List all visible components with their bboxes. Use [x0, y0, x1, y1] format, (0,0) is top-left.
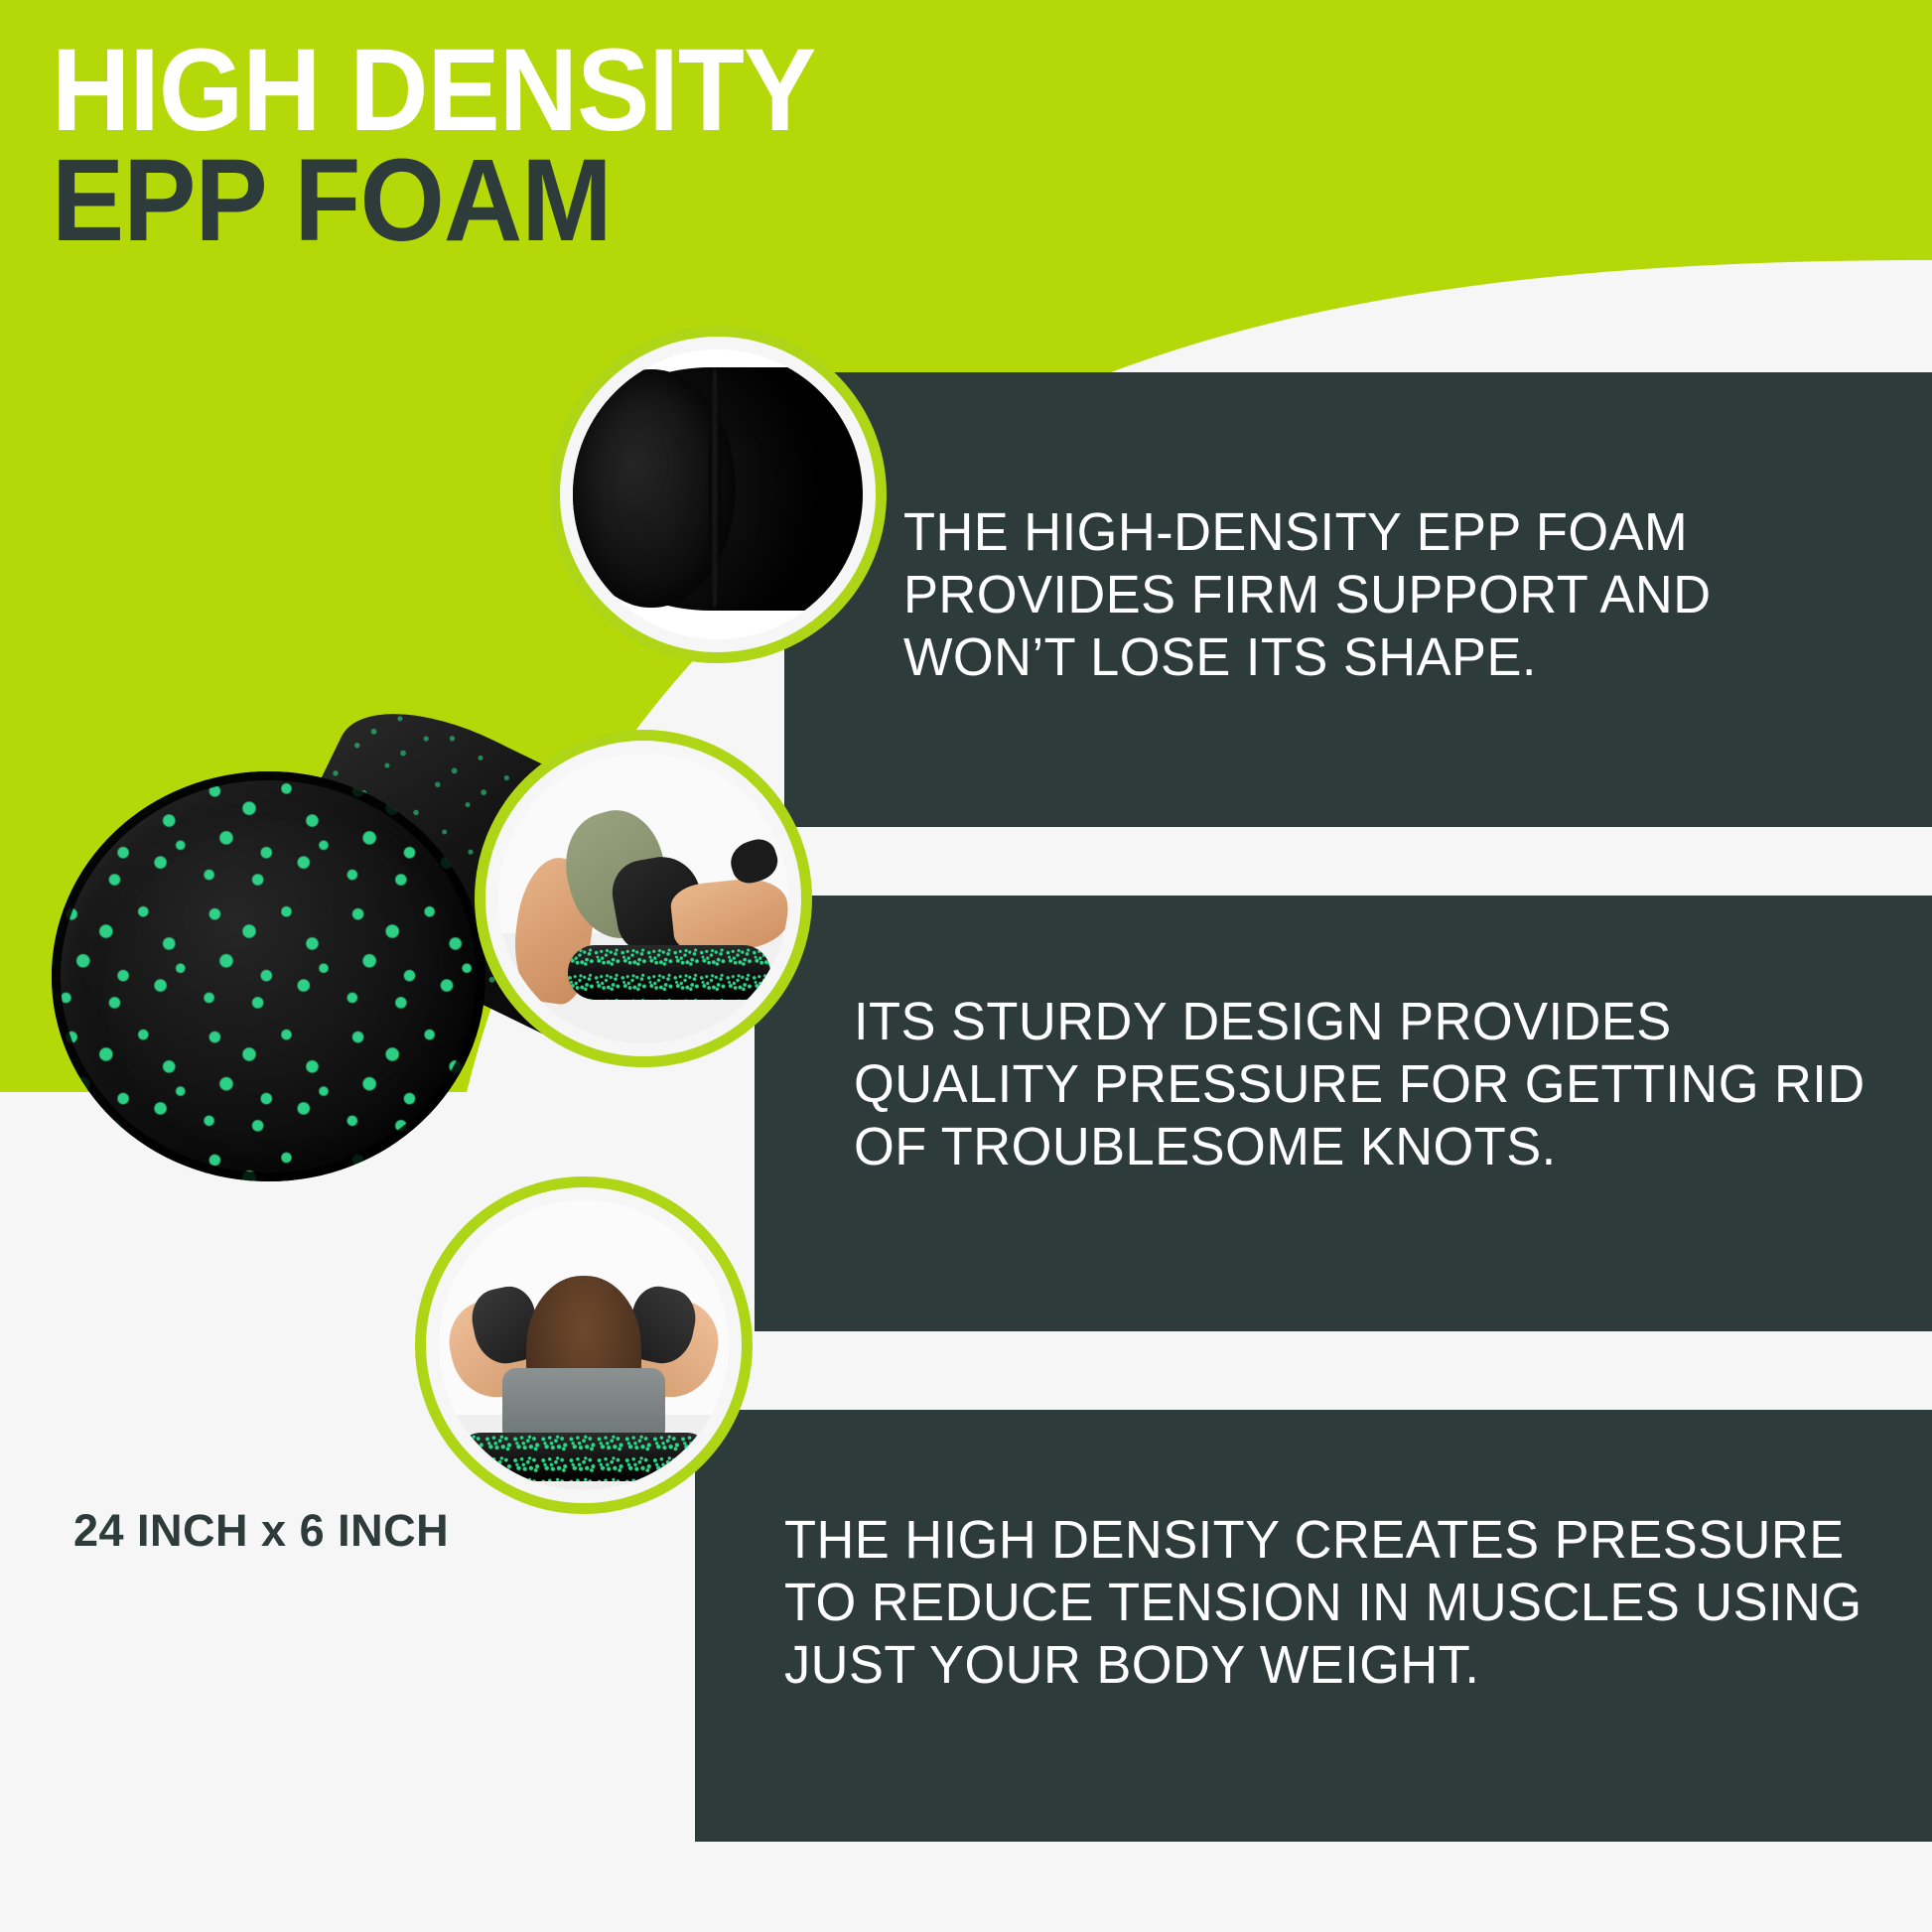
- photo1-roller-seam: [709, 369, 721, 607]
- feature-panel-firm-support: THE HIGH-DENSITY EPP FOAM PROVIDES FIRM …: [784, 372, 1932, 827]
- feature-text-firm-support: THE HIGH-DENSITY EPP FOAM PROVIDES FIRM …: [903, 501, 1885, 690]
- infographic-canvas: HIGH DENSITY EPP FOAM THE HIGH-DENSITY E…: [0, 0, 1932, 1932]
- page-title: HIGH DENSITY EPP FOAM: [52, 36, 873, 256]
- feature-text-reduce-tension: THE HIGH DENSITY CREATES PRESSURE TO RED…: [784, 1509, 1882, 1698]
- feature-panel-sturdy-design: ITS STURDY DESIGN PROVIDES QUALITY PRESS…: [755, 896, 1932, 1331]
- title-line-2: EPP FOAM: [52, 146, 815, 256]
- title-line-1: HIGH DENSITY: [52, 36, 815, 146]
- feature-photo-reduce-tension: [415, 1176, 753, 1514]
- photo-frame-3: [439, 1200, 729, 1490]
- feature-photo-firm-support: [549, 326, 887, 663]
- photo2-foam-roller: [568, 945, 770, 1000]
- photo3-foam-roller: [457, 1433, 712, 1482]
- hero-roller-rim: [52, 771, 485, 1181]
- dimension-label: 24 INCH x 6 INCH: [73, 1505, 449, 1557]
- feature-panel-reduce-tension: THE HIGH DENSITY CREATES PRESSURE TO RED…: [695, 1410, 1932, 1842]
- photo-frame-1: [573, 349, 863, 639]
- photo-frame-2: [498, 754, 788, 1043]
- feature-text-sturdy-design: ITS STURDY DESIGN PROVIDES QUALITY PRESS…: [854, 991, 1874, 1179]
- feature-photo-sturdy-design: [475, 730, 812, 1067]
